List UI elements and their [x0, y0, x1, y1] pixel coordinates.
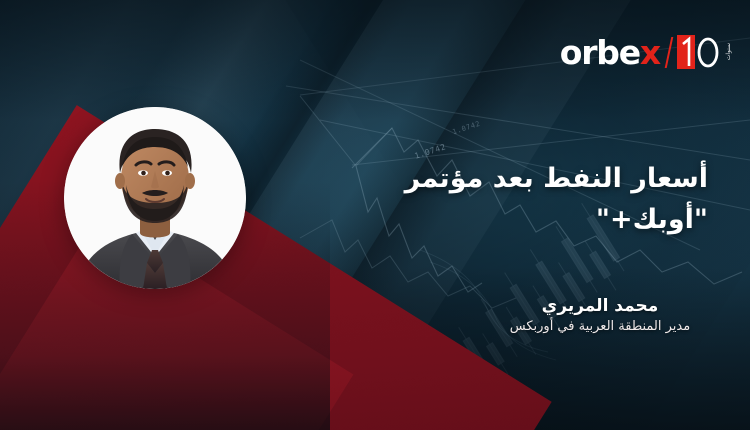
headline-line-2: "أوبك+" [288, 199, 708, 240]
orbex-logo[interactable]: orbex سنوات [560, 32, 732, 72]
speaker-block: محمد المريري مدير المنطقة العربية في أور… [450, 296, 750, 336]
speaker-role: مدير المنطقة العربية في أوربكس [450, 319, 750, 335]
orbex-wordmark-accent: x [640, 36, 660, 69]
speaker-name: محمد المريري [450, 296, 750, 316]
page-title: أسعار النفط بعد مؤتمر "أوبك+" [288, 158, 708, 240]
anniversary-mark: سنوات [677, 35, 732, 69]
headline-line-1: أسعار النفط بعد مؤتمر [405, 163, 708, 194]
orbex-wordmark: orbex [560, 36, 660, 69]
avatar [64, 107, 246, 289]
logo-divider [665, 37, 674, 68]
anniversary-label: سنوات [726, 43, 732, 60]
banner-canvas: 1.0742 1.0742 [0, 0, 750, 430]
orbex-wordmark-text: orbe [560, 36, 640, 69]
